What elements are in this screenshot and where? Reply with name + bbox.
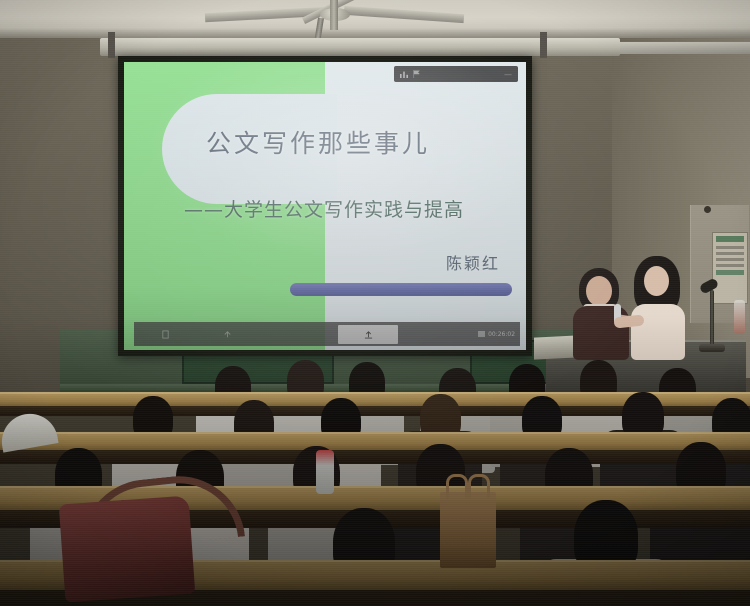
upload-cloud-icon: [364, 330, 373, 339]
roller-bracket: [540, 32, 547, 58]
gooseneck-microphone-stand: [710, 290, 714, 348]
slide-accent-bar: [290, 283, 512, 296]
projector-screen-roller-extension: [612, 42, 750, 54]
presenter-light-top: [628, 256, 690, 360]
wall-speaker-icon: [704, 206, 711, 213]
projection-screen-frame: 公文写作那些事儿 ——大学生公文写作实践与提高 陈颖红 —: [118, 56, 532, 356]
player-bottom-toolbar[interactable]: 00:26:02: [134, 322, 520, 346]
player-elapsed-time: 00:26:02: [488, 331, 520, 338]
head: [644, 266, 669, 296]
slide-author: 陈颖红: [446, 250, 500, 274]
torso: [631, 304, 685, 360]
wall-notice-board: [712, 232, 748, 304]
ceiling-fan-mount: [330, 0, 338, 30]
microphone-base: [699, 344, 725, 352]
presenter-dark-top: [571, 268, 633, 360]
player-button-document[interactable]: [134, 330, 196, 339]
water-bottle: [316, 450, 334, 494]
head: [586, 276, 612, 306]
upload-icon: [223, 330, 232, 339]
paper-bag: [440, 492, 496, 568]
bar-chart-icon[interactable]: [400, 70, 408, 78]
roller-bracket: [108, 32, 115, 58]
lecture-hall-photo: 公文写作那些事儿 ——大学生公文写作实践与提高 陈颖红 —: [0, 0, 750, 606]
slide-title: 公文写作那些事儿: [124, 124, 512, 160]
red-handbag: [59, 496, 196, 603]
projection-screen: 公文写作那些事儿 ——大学生公文写作实践与提高 陈颖红 —: [124, 62, 526, 350]
document-icon: [161, 330, 170, 339]
timer-icon: [478, 331, 485, 337]
player-button-center[interactable]: [338, 325, 398, 344]
flag-icon[interactable]: [413, 70, 421, 78]
slide-subtitle: ——大学生公文写作实践与提高: [132, 195, 516, 222]
presentation-slide: 公文写作那些事儿 ——大学生公文写作实践与提高 陈颖红: [124, 62, 526, 350]
player-top-toolbar[interactable]: —: [394, 66, 518, 82]
minimize-icon[interactable]: —: [504, 70, 512, 79]
water-bottle: [734, 300, 745, 334]
player-button-upload[interactable]: [196, 330, 258, 339]
